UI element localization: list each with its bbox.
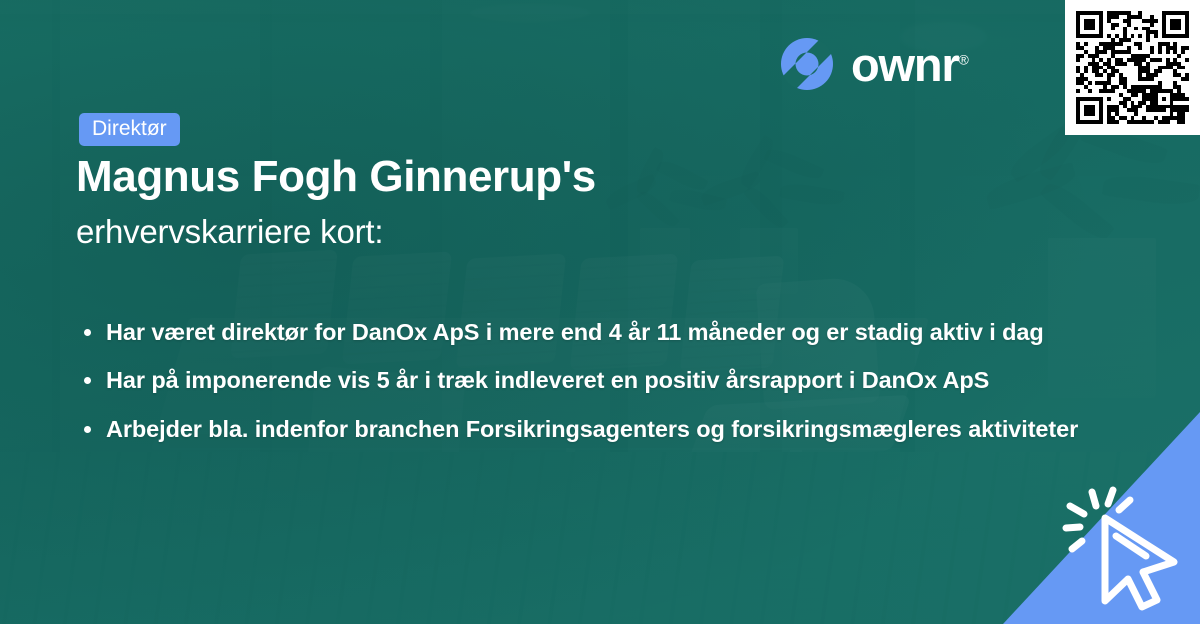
list-item: Har på imponerende vis 5 år i træk indle… <box>78 360 1088 400</box>
page-subtitle: erhvervskarriere kort: <box>76 213 1076 251</box>
list-item: Har været direktør for DanOx ApS i mere … <box>78 312 1088 352</box>
qr-code-panel[interactable] <box>1065 0 1200 135</box>
role-badge: Direktør <box>79 113 180 146</box>
wordmark-text: ownr <box>851 38 958 91</box>
qr-code[interactable] <box>1076 11 1189 124</box>
career-highlights-list: Har været direktør for DanOx ApS i mere … <box>78 312 1088 457</box>
ownr-wordmark: ownr® <box>851 41 969 88</box>
ownr-circle-swirl-icon <box>779 36 835 92</box>
list-item: Arbejder bla. indenfor branchen Forsikri… <box>78 409 1088 449</box>
page-title: Magnus Fogh Ginnerup's <box>76 155 1076 199</box>
ownr-logo[interactable]: ownr® <box>779 36 969 92</box>
registered-trademark-icon: ® <box>958 51 968 67</box>
career-summary-card: ownr® Direktør Magnus Fogh Ginnerup's er… <box>0 0 1200 624</box>
